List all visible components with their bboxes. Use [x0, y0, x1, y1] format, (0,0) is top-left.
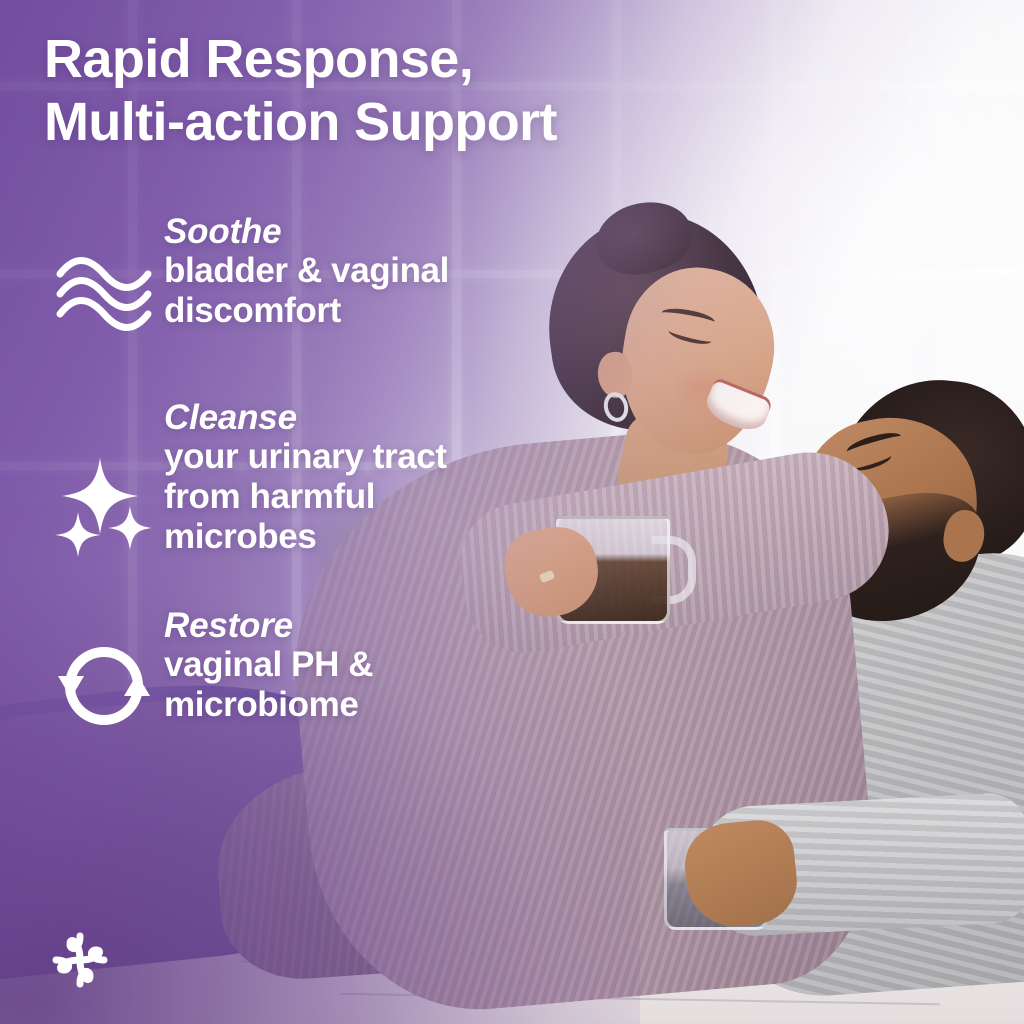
promotional-banner: Rapid Response, Multi-action Support Soo…: [0, 0, 1024, 1024]
benefit-item-soothe: Soothe bladder & vaginal discomfort: [44, 206, 664, 352]
sparkles-icon: [44, 446, 164, 566]
benefit-title: Cleanse: [164, 398, 447, 437]
benefit-body: bladder & vaginal discomfort: [164, 251, 449, 331]
refresh-cycle-icon: [44, 626, 164, 746]
benefits-list: Soothe bladder & vaginal discomfort Clea…: [44, 206, 664, 782]
benefit-title: Restore: [164, 606, 373, 645]
waves-icon: [44, 232, 164, 352]
benefit-body: vaginal PH & microbiome: [164, 645, 373, 725]
content-layer: Rapid Response, Multi-action Support Soo…: [0, 0, 1024, 1024]
benefit-body: your urinary tract from harmful microbes: [164, 437, 447, 557]
benefit-title: Soothe: [164, 212, 449, 251]
benefit-item-restore: Restore vaginal PH & microbiome: [44, 600, 664, 746]
benefit-text-soothe: Soothe bladder & vaginal discomfort: [164, 206, 449, 331]
four-petal-flourish-logo-icon: [44, 924, 116, 996]
benefit-text-restore: Restore vaginal PH & microbiome: [164, 600, 373, 725]
benefit-text-cleanse: Cleanse your urinary tract from harmful …: [164, 392, 447, 557]
headline: Rapid Response, Multi-action Support: [44, 28, 724, 153]
benefit-item-cleanse: Cleanse your urinary tract from harmful …: [44, 392, 664, 566]
